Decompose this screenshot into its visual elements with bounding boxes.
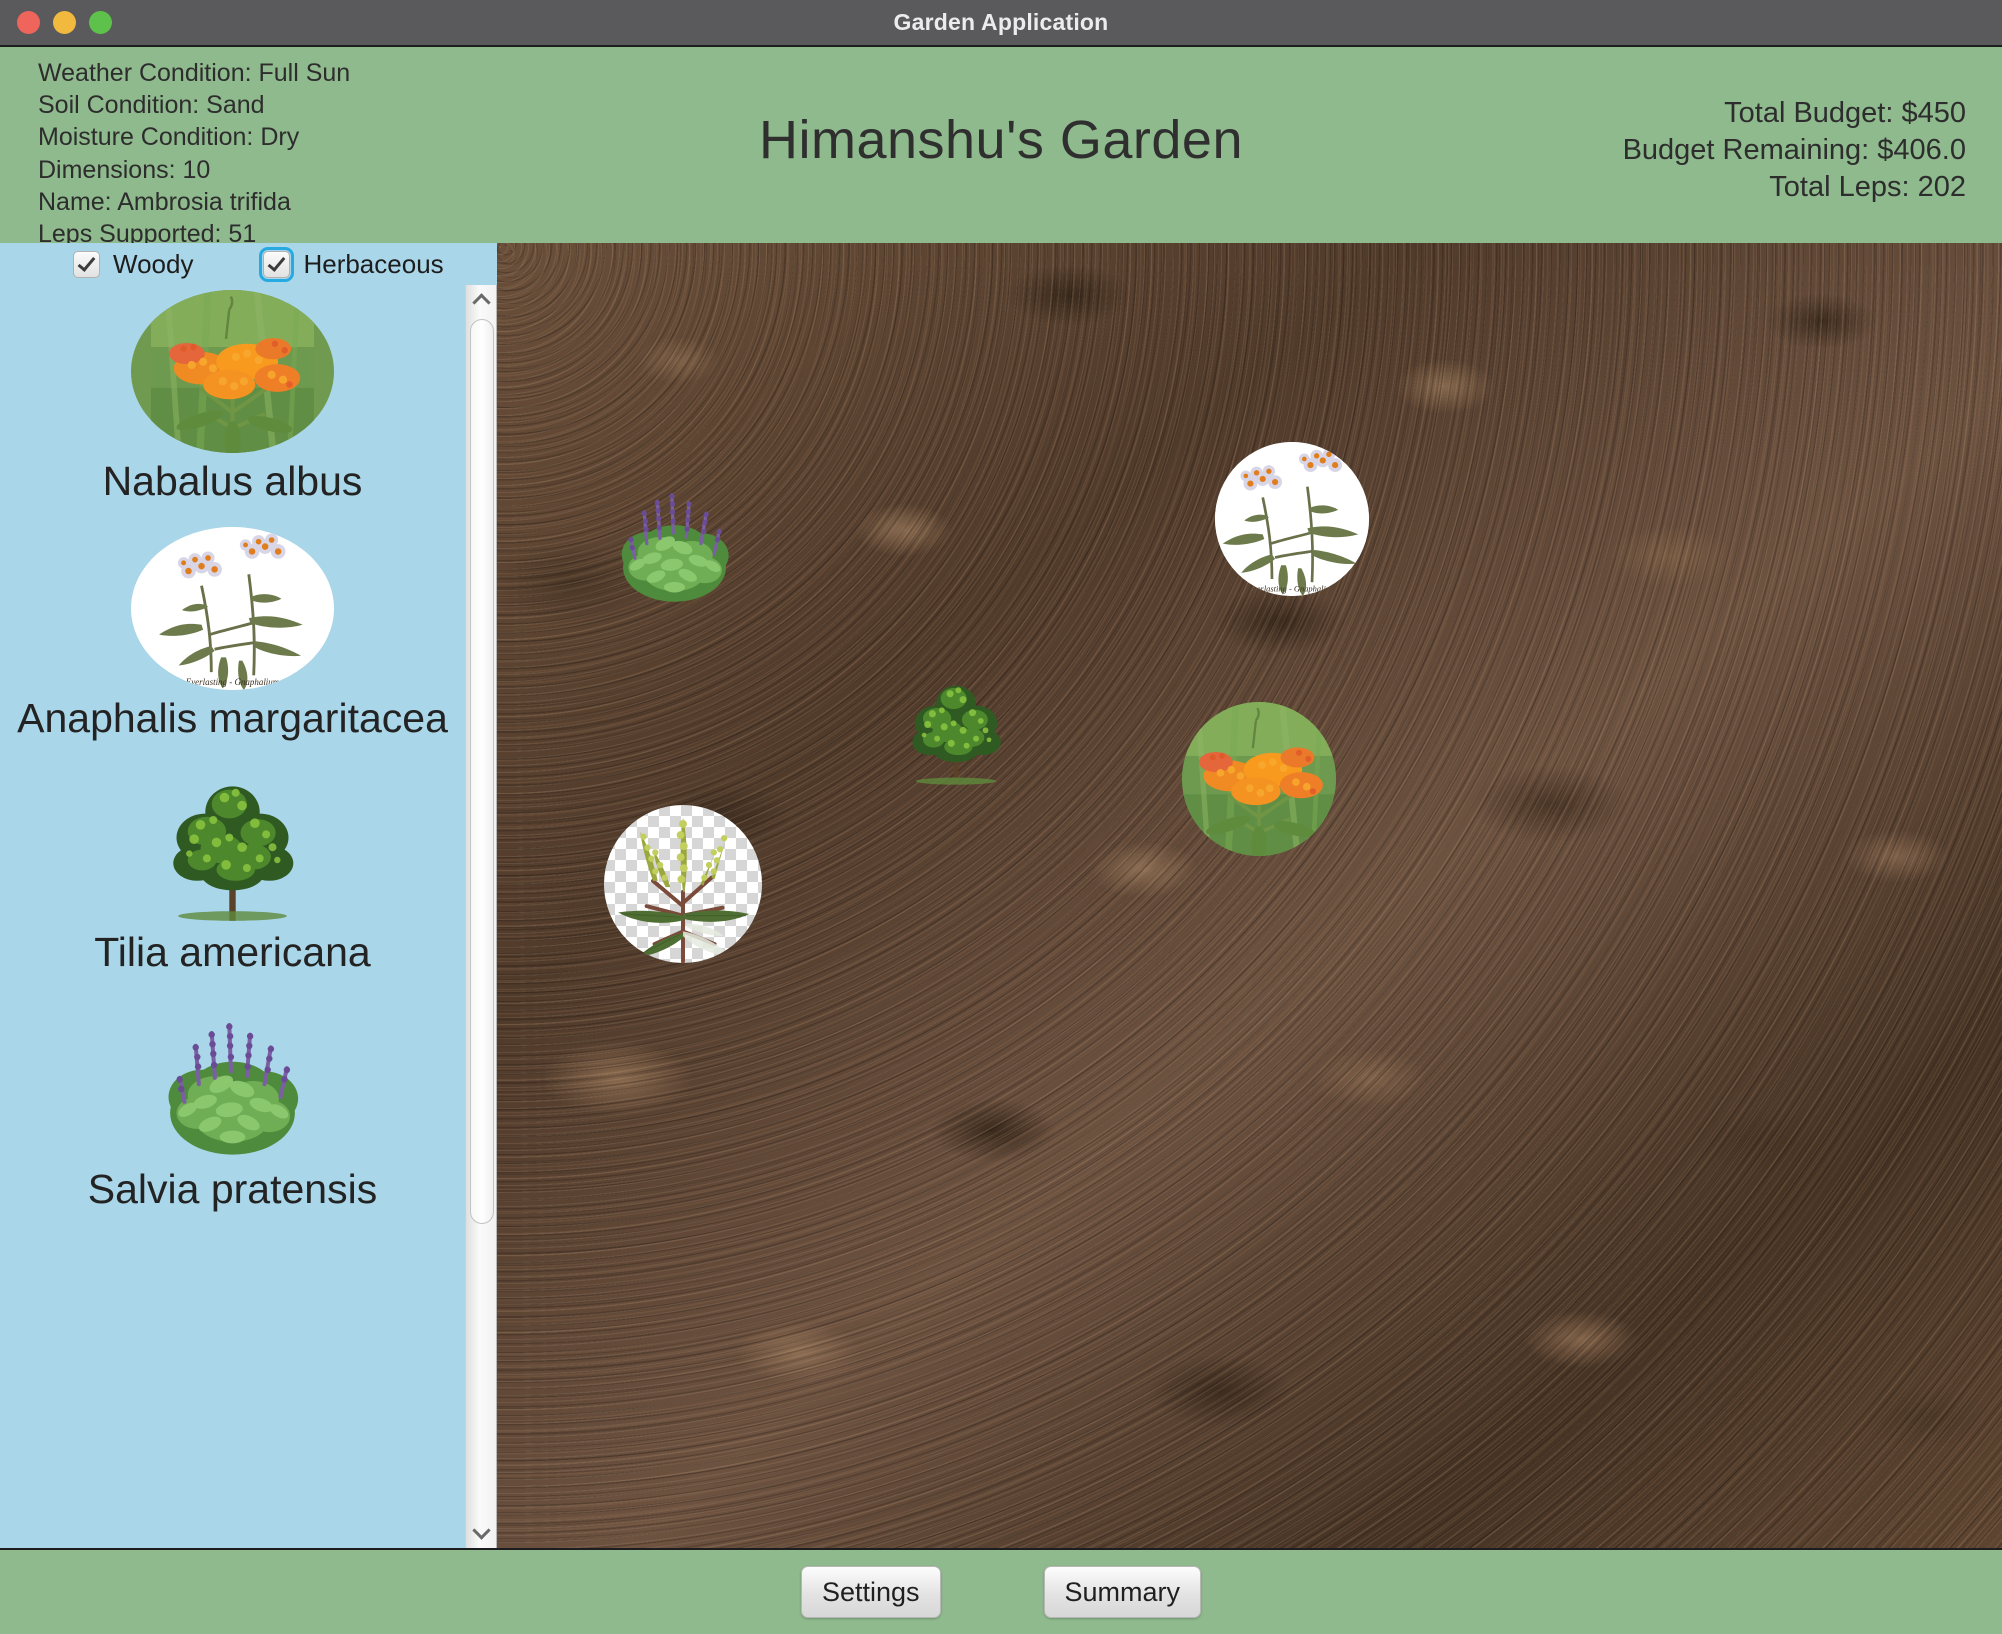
chevron-down-icon	[472, 1521, 490, 1539]
filter-herbaceous-label: Herbaceous	[303, 249, 443, 280]
header-bar: Weather Condition: Full Sun Soil Conditi…	[0, 47, 2002, 243]
sidebar-scrollbar[interactable]	[465, 285, 497, 1548]
maximize-window-button[interactable]	[89, 11, 112, 34]
scroll-up-button[interactable]	[466, 285, 497, 315]
checkbox-herbaceous[interactable]	[263, 251, 290, 278]
window-titlebar: Garden Application	[0, 0, 2002, 47]
footer-toolbar: Settings Summary	[0, 1548, 2002, 1634]
settings-button[interactable]: Settings	[801, 1566, 941, 1618]
plant-name-label: Salvia pratensis	[88, 1167, 377, 1212]
placed-plant-anaphalis-margaritacea[interactable]	[1215, 442, 1369, 596]
window-title: Garden Application	[0, 0, 2002, 45]
list-item[interactable]: Salvia pratensis	[0, 996, 465, 1233]
summary-button[interactable]: Summary	[1044, 1566, 1202, 1618]
plant-type-filter-bar: Woody Herbaceous	[0, 243, 497, 285]
main-body: Woody Herbaceous Nabalus albus	[0, 243, 2002, 1548]
info-weather-condition: Weather Condition: Full Sun	[38, 57, 350, 89]
plant-name-label: Anaphalis margaritacea	[17, 696, 448, 741]
list-item[interactable]: Tilia americana	[0, 759, 465, 996]
plant-thumbnail-nabalus-albus[interactable]	[131, 290, 334, 453]
placed-plant-nabalus-albus[interactable]	[1182, 702, 1336, 856]
minimize-window-button[interactable]	[53, 11, 76, 34]
placed-plant-tilia-americana[interactable]	[897, 663, 1015, 793]
filter-woody-label: Woody	[113, 249, 193, 280]
plant-list[interactable]: Nabalus albus Anaphalis margaritacea Til…	[0, 285, 465, 1548]
placed-plant-ambrosia-trifida[interactable]	[604, 805, 762, 963]
check-icon	[78, 253, 96, 272]
window-controls	[17, 11, 112, 34]
total-leps: Total Leps: 202	[1623, 169, 1966, 206]
plant-thumbnail-salvia-pratensis[interactable]	[131, 1001, 334, 1161]
scrollbar-thumb[interactable]	[470, 319, 494, 1224]
plant-thumbnail-tilia-americana[interactable]	[131, 764, 334, 924]
application-window: Garden Application Weather Condition: Fu…	[0, 0, 2002, 1634]
scroll-down-button[interactable]	[466, 1518, 497, 1548]
plant-name-label: Nabalus albus	[103, 459, 363, 504]
list-item[interactable]: Nabalus albus	[0, 285, 465, 522]
total-budget: Total Budget: $450	[1623, 95, 1966, 132]
filter-herbaceous[interactable]: Herbaceous	[263, 249, 443, 280]
info-name: Name: Ambrosia trifida	[38, 186, 350, 218]
plant-name-label: Tilia americana	[94, 930, 370, 975]
placed-plant-salvia-pratensis[interactable]	[603, 475, 746, 607]
close-window-button[interactable]	[17, 11, 40, 34]
budget-remaining: Budget Remaining: $406.0	[1623, 132, 1966, 169]
garden-canvas[interactable]	[497, 243, 2002, 1548]
checkbox-woody[interactable]	[73, 251, 100, 278]
plant-palette-sidebar: Woody Herbaceous Nabalus albus	[0, 243, 497, 1548]
check-icon	[268, 253, 286, 272]
budget-panel: Total Budget: $450 Budget Remaining: $40…	[1623, 95, 1966, 206]
filter-woody[interactable]: Woody	[73, 249, 193, 280]
plant-thumbnail-anaphalis-margaritacea[interactable]	[131, 527, 334, 690]
list-item[interactable]: Anaphalis margaritacea	[0, 522, 465, 759]
chevron-up-icon	[472, 293, 490, 311]
